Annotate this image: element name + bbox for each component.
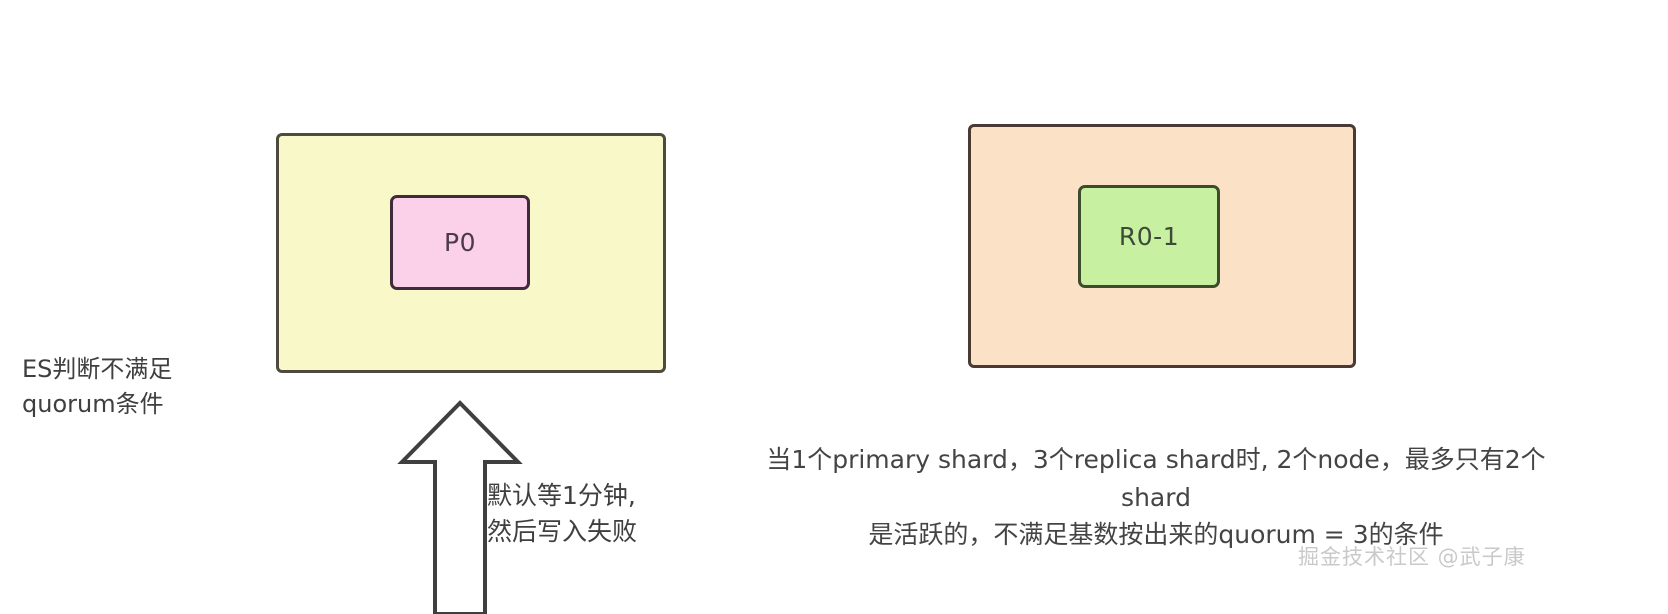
- primary-shard-p0-label: P0: [444, 230, 476, 255]
- replica-shard-r0-1-label: R0-1: [1119, 224, 1179, 249]
- replica-shard-r0-1: R0-1: [1078, 185, 1220, 288]
- diagram-caption: 当1个primary shard，3个replica shard时, 2个nod…: [756, 441, 1556, 554]
- primary-shard-p0: P0: [390, 195, 530, 290]
- diagram-canvas: P0 R0-1 ES判断不满足 quorum条件 默认等1分钟, 然后写入失败 …: [0, 0, 1668, 614]
- write-timeout-label: 默认等1分钟, 然后写入失败: [487, 478, 747, 551]
- watermark: 掘金技术社区 @武子康: [1298, 541, 1526, 571]
- quorum-fail-label: ES判断不满足 quorum条件: [22, 352, 282, 422]
